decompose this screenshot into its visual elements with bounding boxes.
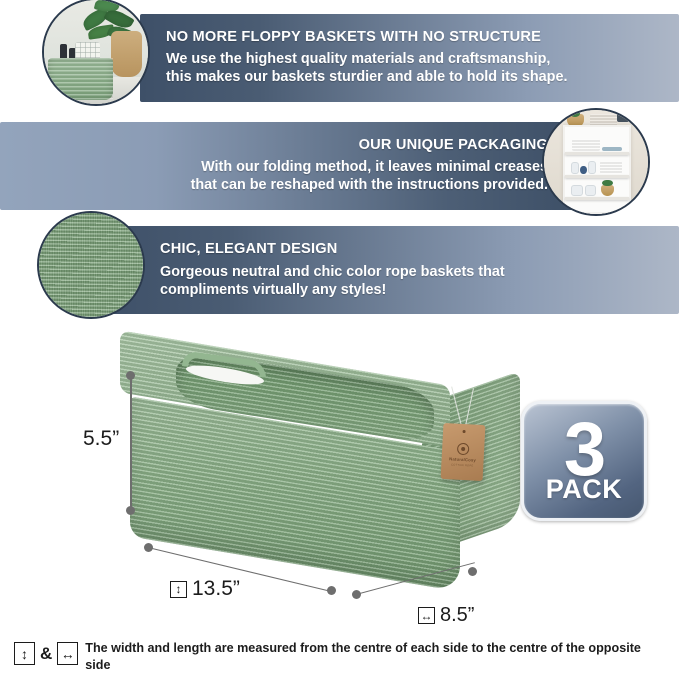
length-dimension-label: ↕ 13.5” [170, 577, 240, 601]
feature-title-packaging: OUR UNIQUE PACKAGING [359, 137, 548, 153]
width-dimension-value: 8.5” [440, 604, 474, 627]
feature-body-design-line2: compliments virtually any styles! [160, 282, 665, 300]
horizontal-double-arrow-icon: ↔ [418, 607, 435, 624]
vertical-double-arrow-icon: ↕ [14, 642, 35, 665]
tag-brand-name: NaturalCosy [449, 456, 476, 462]
length-dimension-value: 13.5” [192, 577, 240, 601]
feature-title-structure: NO MORE FLOPPY BASKETS WITH NO STRUCTURE [166, 29, 665, 45]
white-shelf-with-green-baskets-photo [542, 108, 650, 216]
length-dimension-dot-left [144, 543, 153, 552]
product-infographic: NO MORE FLOPPY BASKETS WITH NO STRUCTURE… [0, 0, 679, 673]
tag-brand-tagline: COTTON ROPE [451, 463, 473, 467]
green-cotton-rope-storage-basket: NaturalCosy COTTON ROPE [120, 352, 520, 600]
pack-count-badge: 3 PACK [521, 401, 647, 521]
feature-body-structure-line1: We use the highest quality materials and… [166, 51, 665, 69]
height-dimension-dot-bottom [126, 506, 135, 515]
feature-body-packaging-line1: With our folding method, it leaves minim… [201, 159, 548, 177]
bathroom-counter-with-green-basket-photo [42, 0, 150, 106]
footnote-icon-group: ↕ & ↔ [14, 640, 78, 665]
ampersand-separator: & [40, 644, 52, 664]
horizontal-double-arrow-icon: ↔ [57, 642, 78, 665]
tag-hole [462, 430, 465, 433]
height-dimension-label: 5.5” [83, 427, 119, 451]
length-dimension-dot-right [327, 586, 336, 595]
width-dimension-dot-right [468, 567, 477, 576]
height-dimension-line [130, 375, 132, 510]
pack-count-word: PACK [546, 474, 623, 505]
feature-banner-packaging: OUR UNIQUE PACKAGING With our folding me… [0, 122, 600, 210]
feature-body-packaging-line2: that can be reshaped with the instructio… [191, 177, 548, 195]
height-dimension-dot-top [126, 371, 135, 380]
width-dimension-dot-left [352, 590, 361, 599]
vertical-double-arrow-icon: ↕ [170, 581, 187, 598]
brand-hang-tag: NaturalCosy COTTON ROPE [441, 423, 486, 481]
footnote-line1: The width and length are measured from t… [85, 640, 664, 673]
measurement-footnote: ↕ & ↔ The width and length are measured … [14, 640, 664, 673]
feature-banner-design: CHIC, ELEGANT DESIGN Gorgeous neutral an… [100, 226, 679, 314]
width-dimension-label: ↔ 8.5” [418, 604, 474, 627]
pack-count-number: 3 [564, 417, 604, 482]
feature-title-design: CHIC, ELEGANT DESIGN [160, 241, 665, 257]
feature-body-design-line1: Gorgeous neutral and chic color rope bas… [160, 264, 665, 282]
feature-banner-structure: NO MORE FLOPPY BASKETS WITH NO STRUCTURE… [140, 14, 679, 102]
green-rope-texture-closeup-photo [37, 211, 145, 319]
height-dimension-value: 5.5” [83, 427, 119, 451]
brand-logo-icon [457, 443, 470, 456]
feature-body-structure-line2: this makes our baskets sturdier and able… [166, 69, 665, 87]
